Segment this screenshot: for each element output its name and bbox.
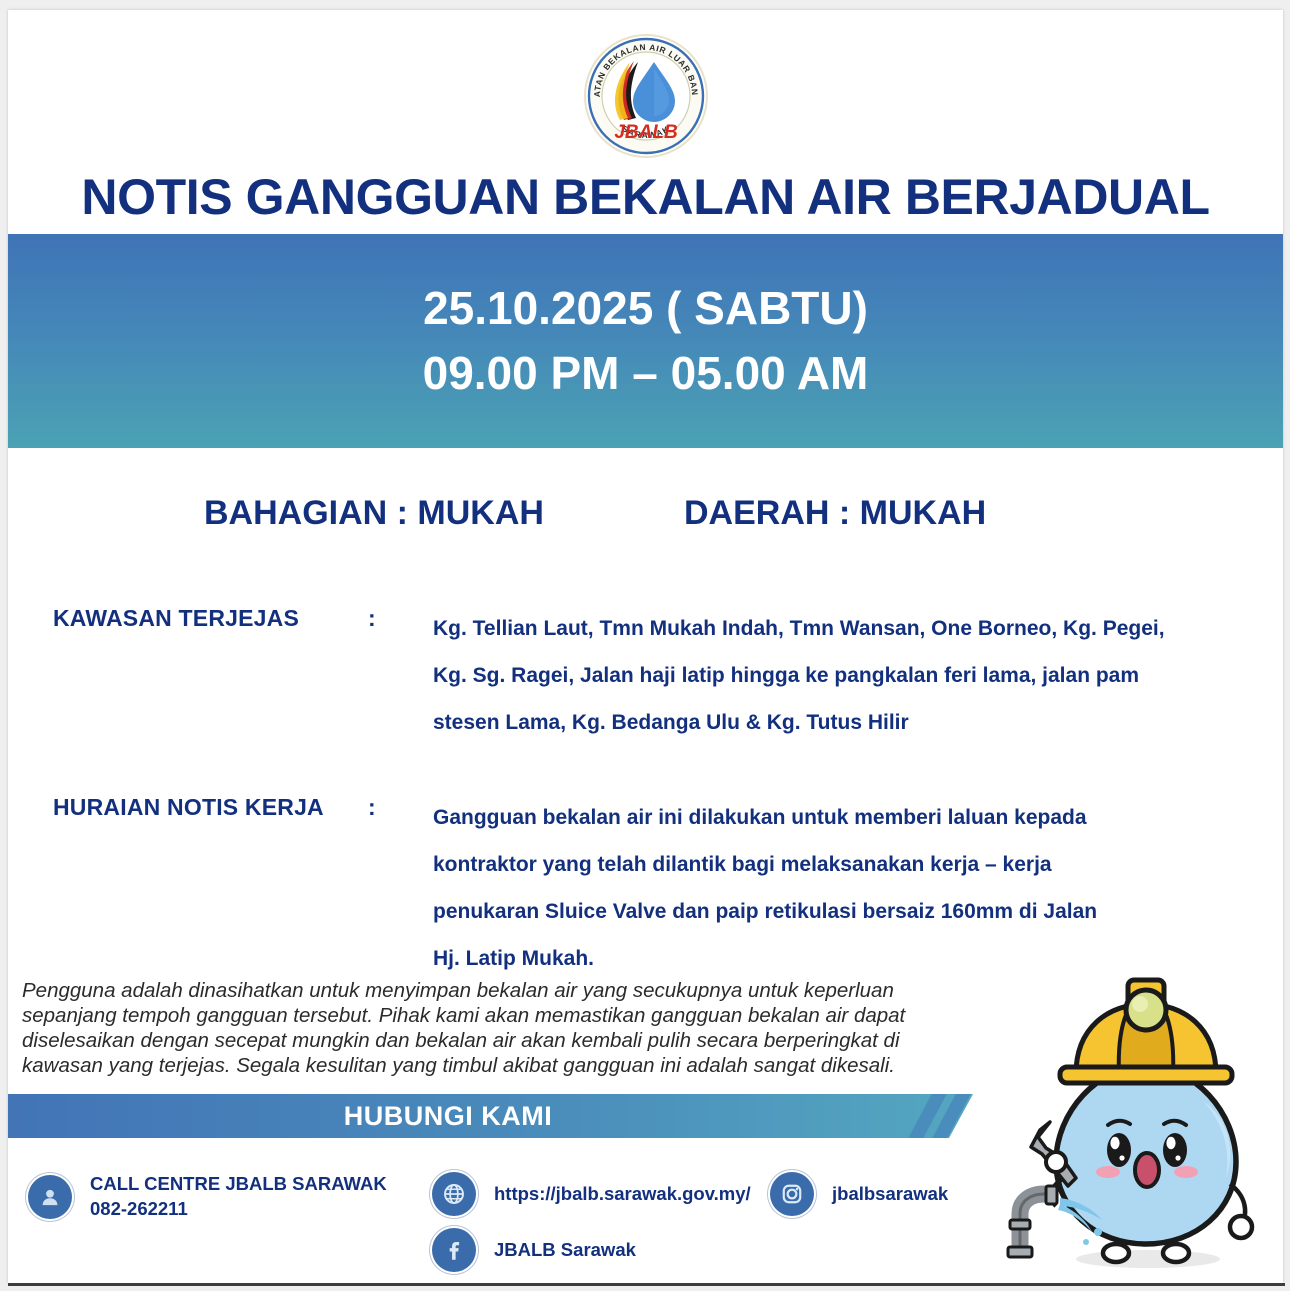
section-body: Gangguan bekalan air ini dilakukan untuk… [433,794,1223,982]
disclaimer-line: kawasan yang terjejas. Segala kesulitan … [22,1053,952,1078]
section-body: Kg. Tellian Laut, Tmn Mukah Indah, Tmn W… [433,605,1223,746]
section-line: stesen Lama, Kg. Bedanga Ulu & Kg. Tutus… [433,699,1223,746]
svg-text:JBALB: JBALB [614,122,678,143]
section-colon: : [368,794,376,821]
facebook-page[interactable]: JBALB Sarawak [494,1238,636,1263]
contact-call-text: CALL CENTRE JBALB SARAWAK 082-262211 [90,1172,387,1222]
disclaimer-line: diselesaikan dengan secepat mungkin dan … [22,1028,952,1053]
water-drop-mascot [998,962,1283,1274]
section-label: KAWASAN TERJEJAS [53,605,299,632]
section-line: Kg. Sg. Ragei, Jalan haji latip hingga k… [433,652,1223,699]
notice-page: JABATAN BEKALAN AIR LUAR BANDAR SARAWAK … [8,10,1283,1283]
contact-banner-label: HUBUNGI KAMI [8,1094,888,1138]
banner-time: 09.00 PM – 05.00 AM [423,341,869,406]
disclaimer-line: Pengguna adalah dinasihatkan untuk menyi… [22,978,952,1003]
contact-website[interactable]: https://jbalb.sarawak.gov.my/ [432,1172,751,1216]
globe-icon [432,1172,476,1216]
section-label: HURAIAN NOTIS KERJA [53,794,324,821]
jbalb-logo: JABATAN BEKALAN AIR LUAR BANDAR SARAWAK … [582,32,710,160]
bahagian-label: BAHAGIAN : MUKAH [204,494,544,533]
contact-instagram[interactable]: jbalbsarawak [770,1172,948,1216]
contact-banner: HUBUNGI KAMI [8,1094,973,1138]
page-title: NOTIS GANGGUAN BEKALAN AIR BERJADUAL [8,168,1283,226]
banner-date: 25.10.2025 ( SABTU) [423,276,868,341]
section-line: kontraktor yang telah dilantik bagi mela… [433,841,1223,888]
call-centre-title: CALL CENTRE JBALB SARAWAK [90,1172,387,1197]
facebook-icon [432,1228,476,1272]
section-colon: : [368,605,376,632]
contact-facebook[interactable]: JBALB Sarawak [432,1228,636,1272]
call-centre-number: 082-262211 [90,1197,387,1222]
date-time-banner: 25.10.2025 ( SABTU) 09.00 PM – 05.00 AM [8,234,1283,448]
section-line: Kg. Tellian Laut, Tmn Mukah Indah, Tmn W… [433,605,1223,652]
daerah-label: DAERAH : MUKAH [684,494,986,533]
disclaimer-text: Pengguna adalah dinasihatkan untuk menyi… [22,978,952,1078]
instagram-handle[interactable]: jbalbsarawak [832,1182,948,1207]
website-url[interactable]: https://jbalb.sarawak.gov.my/ [494,1182,751,1207]
person-icon [28,1175,72,1219]
bottom-rule [8,1283,1285,1286]
instagram-icon [770,1172,814,1216]
section-line: Gangguan bekalan air ini dilakukan untuk… [433,794,1223,841]
disclaimer-line: sepanjang tempoh gangguan tersebut. Piha… [22,1003,952,1028]
section-line: penukaran Sluice Valve dan paip retikula… [433,888,1223,935]
contact-call-centre[interactable]: CALL CENTRE JBALB SARAWAK 082-262211 [28,1172,387,1222]
